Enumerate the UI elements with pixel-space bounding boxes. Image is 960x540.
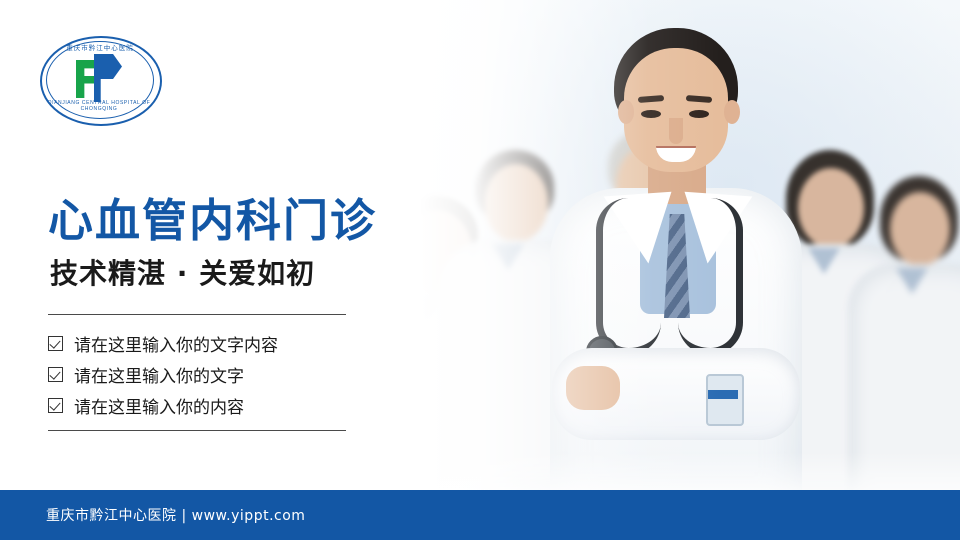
footer-bar: 重庆市黔江中心医院 | www.yippt.com <box>0 490 960 540</box>
logo-chinese-text: 重庆市黔江中心医院 <box>60 42 140 52</box>
doctor-id-badge-strip <box>708 390 738 399</box>
doctor-hand <box>566 366 620 410</box>
divider-bottom <box>48 430 346 431</box>
doctor-id-badge <box>706 374 744 426</box>
page-subtitle: 技术精湛 · 关爱如初 <box>50 252 315 292</box>
content-panel: 重庆市黔江中心医院 QIANJIANG CENTRAL HOSPITAL OF … <box>0 0 470 512</box>
doctor-ear-left <box>618 100 634 124</box>
logo-english-text: QIANJIANG CENTRAL HOSPITAL OF CHONGQING <box>44 100 154 113</box>
list-item: 请在这里输入你的文字内容 <box>48 328 378 359</box>
list-item-label: 请在这里输入你的文字 <box>74 362 244 387</box>
doctor-eye-right <box>689 110 709 118</box>
stethoscope-tube-left <box>596 198 661 355</box>
logo-emblem-blue-shape <box>94 54 122 102</box>
list-item: 请在这里输入你的文字 <box>48 359 378 390</box>
list-item: 请在这里输入你的内容 <box>48 390 378 421</box>
checkbox-icon <box>48 398 63 413</box>
doctor-nose <box>669 118 683 144</box>
background-person-5 <box>858 176 960 506</box>
bullet-list: 请在这里输入你的文字内容 请在这里输入你的文字 请在这里输入你的内容 <box>48 328 378 421</box>
logo-emblem-icon <box>76 54 122 102</box>
footer-label: 重庆市黔江中心医院 | www.yippt.com <box>46 505 305 525</box>
foreground-doctor <box>510 18 840 512</box>
list-item-label: 请在这里输入你的内容 <box>74 393 244 418</box>
doctor-ear-right <box>724 100 740 124</box>
checkbox-icon <box>48 367 63 382</box>
checkbox-icon <box>48 336 63 351</box>
list-item-label: 请在这里输入你的文字内容 <box>74 331 278 356</box>
hospital-logo: 重庆市黔江中心医院 QIANJIANG CENTRAL HOSPITAL OF … <box>40 36 162 126</box>
stethoscope-tube-right <box>678 198 743 355</box>
presentation-slide: 重庆市黔江中心医院 QIANJIANG CENTRAL HOSPITAL OF … <box>0 0 960 540</box>
divider-top <box>48 314 346 315</box>
page-title: 心血管内科门诊 <box>48 184 377 249</box>
doctor-eye-left <box>641 110 661 118</box>
